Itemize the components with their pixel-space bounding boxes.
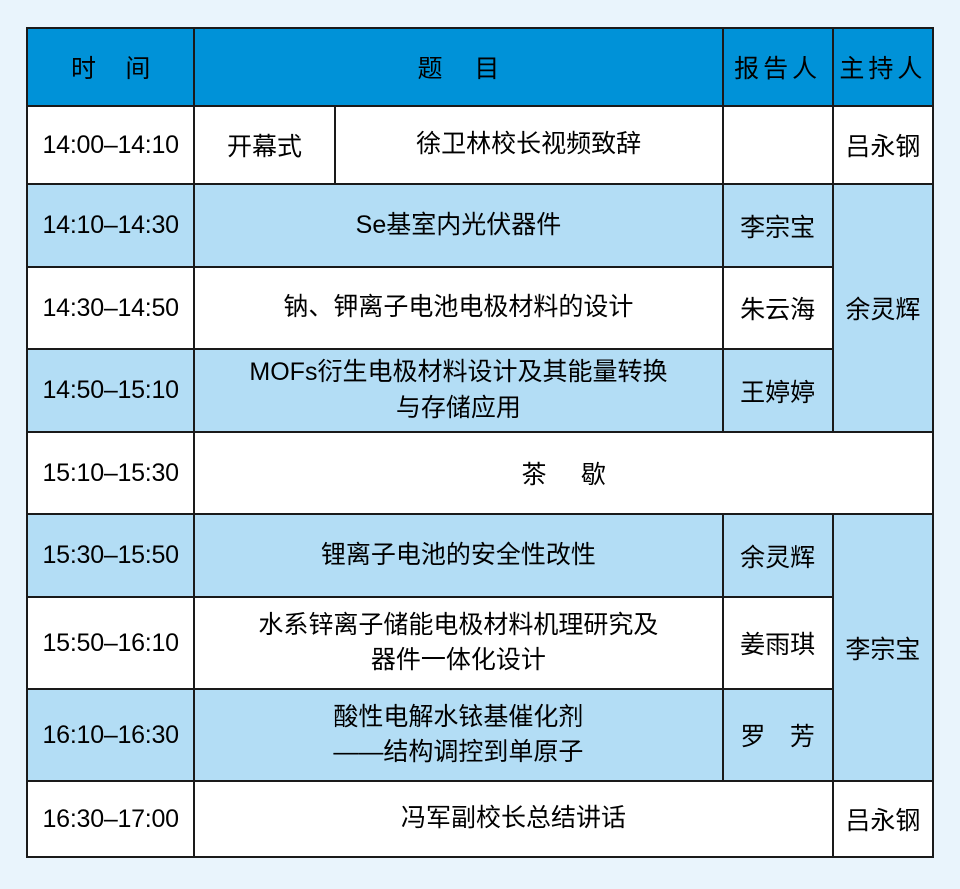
schedule-page: 时 间 题 目 报告人 主持人 14:00–14:10 开幕式 徐卫林校长视频致… [0, 0, 960, 889]
topic-line-1: MOFs衍生电极材料设计及其能量转换 [199, 355, 717, 391]
header-row: 时 间 题 目 报告人 主持人 [27, 28, 933, 106]
cell-session-label: 开幕式 [194, 106, 334, 184]
table-row: 14:50–15:10 MOFs衍生电极材料设计及其能量转换 与存储应用 王婷婷 [27, 349, 933, 432]
cell-topic: MOFs衍生电极材料设计及其能量转换 与存储应用 [194, 349, 722, 432]
cell-speaker: 姜雨琪 [723, 597, 833, 689]
cell-speaker: 罗 芳 [723, 689, 833, 781]
cell-time: 15:30–15:50 [27, 514, 194, 597]
cell-host: 吕永钢 [833, 781, 933, 857]
table-row: 14:00–14:10 开幕式 徐卫林校长视频致辞 吕永钢 [27, 106, 933, 184]
cell-speaker: 李宗宝 [723, 184, 833, 267]
cell-topic: 酸性电解水铱基催化剂 ——结构调控到单原子 [194, 689, 722, 781]
cell-host: 余灵辉 [833, 184, 933, 432]
conference-schedule-table: 时 间 题 目 报告人 主持人 14:00–14:10 开幕式 徐卫林校长视频致… [26, 27, 934, 858]
table-row: 15:30–15:50 锂离子电池的安全性改性 余灵辉 李宗宝 [27, 514, 933, 597]
cell-time: 14:00–14:10 [27, 106, 194, 184]
cell-time: 14:10–14:30 [27, 184, 194, 267]
column-header-topic: 题 目 [194, 28, 722, 106]
table-header: 时 间 题 目 报告人 主持人 [27, 28, 933, 106]
table-row: 15:10–15:30 茶 歇 [27, 432, 933, 514]
table-row: 15:50–16:10 水系锌离子储能电极材料机理研究及 器件一体化设计 姜雨琪 [27, 597, 933, 689]
cell-topic: 徐卫林校长视频致辞 [335, 106, 723, 184]
cell-time: 14:30–14:50 [27, 267, 194, 349]
cell-topic: 锂离子电池的安全性改性 [194, 514, 722, 597]
cell-time: 14:50–15:10 [27, 349, 194, 432]
cell-topic: 水系锌离子储能电极材料机理研究及 器件一体化设计 [194, 597, 722, 689]
cell-host: 李宗宝 [833, 514, 933, 781]
cell-topic: Se基室内光伏器件 [194, 184, 722, 267]
cell-time: 16:30–17:00 [27, 781, 194, 857]
column-header-speaker: 报告人 [723, 28, 833, 106]
cell-speaker [723, 106, 833, 184]
cell-host: 吕永钢 [833, 106, 933, 184]
cell-speaker: 余灵辉 [723, 514, 833, 597]
cell-time: 16:10–16:30 [27, 689, 194, 781]
topic-line-2: 与存储应用 [199, 391, 717, 427]
table-row: 16:30–17:00 冯军副校长总结讲话 吕永钢 [27, 781, 933, 857]
table-row: 14:30–14:50 钠、钾离子电池电极材料的设计 朱云海 [27, 267, 933, 349]
topic-line-2: ——结构调控到单原子 [199, 735, 717, 771]
cell-topic: 冯军副校长总结讲话 [194, 781, 832, 857]
topic-line-1: 酸性电解水铱基催化剂 [199, 700, 717, 736]
cell-time: 15:10–15:30 [27, 432, 194, 514]
topic-line-2: 器件一体化设计 [199, 643, 717, 679]
cell-topic-break: 茶 歇 [194, 432, 933, 514]
cell-speaker: 朱云海 [723, 267, 833, 349]
column-header-time: 时 间 [27, 28, 194, 106]
table-row: 16:10–16:30 酸性电解水铱基催化剂 ——结构调控到单原子 罗 芳 [27, 689, 933, 781]
table-body: 14:00–14:10 开幕式 徐卫林校长视频致辞 吕永钢 14:10–14:3… [27, 106, 933, 857]
cell-topic: 钠、钾离子电池电极材料的设计 [194, 267, 722, 349]
cell-time: 15:50–16:10 [27, 597, 194, 689]
cell-speaker: 王婷婷 [723, 349, 833, 432]
table-row: 14:10–14:30 Se基室内光伏器件 李宗宝 余灵辉 [27, 184, 933, 267]
topic-line-1: 水系锌离子储能电极材料机理研究及 [199, 608, 717, 644]
column-header-host: 主持人 [833, 28, 933, 106]
